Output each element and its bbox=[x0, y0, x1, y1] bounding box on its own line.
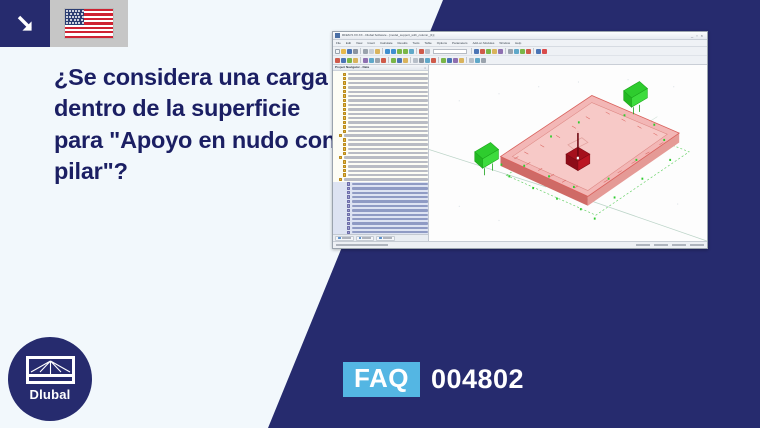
sheet-icon bbox=[347, 222, 350, 225]
tree-item-label bbox=[352, 200, 428, 202]
menu-item-results[interactable]: Results bbox=[398, 42, 408, 45]
navigator-tree[interactable] bbox=[333, 71, 428, 234]
status-bar bbox=[333, 241, 707, 248]
toolbar-separator bbox=[466, 57, 467, 63]
tree-item-label bbox=[348, 104, 428, 106]
sheet-icon bbox=[347, 191, 350, 194]
folder-icon bbox=[343, 143, 346, 146]
folder-icon bbox=[343, 152, 346, 155]
navigator-tab-views[interactable] bbox=[376, 236, 395, 241]
tree-item-label bbox=[348, 91, 428, 93]
folder-icon bbox=[343, 77, 346, 80]
toolbar-icon-new[interactable] bbox=[335, 49, 340, 54]
draw-icon-settings[interactable] bbox=[481, 58, 486, 63]
dlubal-logo-text: Dlubal bbox=[30, 387, 71, 402]
tree-item-label bbox=[348, 73, 428, 75]
draw-icon-dim[interactable] bbox=[413, 58, 418, 63]
dlubal-bridge-truss-icon bbox=[26, 356, 75, 384]
workspace: Project Navigator - Data × bbox=[333, 65, 707, 241]
folder-icon bbox=[343, 121, 346, 124]
menu-item-options[interactable]: Options bbox=[437, 42, 447, 45]
tree-item-label bbox=[348, 165, 428, 167]
toolbar-icon-save[interactable] bbox=[347, 49, 352, 54]
toolbar-icon-pan[interactable] bbox=[403, 49, 408, 54]
tree-item-label bbox=[352, 227, 428, 229]
toolbar-icon-help[interactable] bbox=[542, 49, 547, 54]
toolbar-icon-results[interactable] bbox=[480, 49, 485, 54]
chevron-icon[interactable]: × bbox=[424, 66, 426, 70]
navigator-tab-display[interactable] bbox=[356, 236, 375, 241]
faq-number: 004802 bbox=[431, 364, 524, 395]
minimize-icon[interactable]: _ bbox=[691, 34, 693, 38]
status-coords bbox=[690, 244, 704, 246]
dlubal-logo[interactable]: Dlubal bbox=[8, 337, 92, 421]
tree-item-label bbox=[344, 134, 428, 136]
folder-icon bbox=[343, 138, 346, 141]
toolbar-icon-paste[interactable] bbox=[375, 49, 380, 54]
tree-item-label bbox=[344, 156, 428, 158]
rfem-application-window[interactable]: RFEM 5.XX.XX - Dlubal Software - [model_… bbox=[332, 31, 708, 249]
tree-item-label bbox=[348, 148, 428, 150]
toolbar-separator bbox=[416, 48, 417, 54]
menu-item-window[interactable]: Window bbox=[499, 42, 510, 45]
load-case-select[interactable] bbox=[433, 49, 467, 54]
draw-icon-support[interactable] bbox=[369, 58, 374, 63]
toolbar-icon-print[interactable] bbox=[353, 49, 358, 54]
faq-footer: FAQ 004802 bbox=[343, 362, 524, 397]
folder-icon bbox=[343, 99, 346, 102]
maximize-icon[interactable]: ▫ bbox=[696, 34, 697, 38]
folder-icon bbox=[343, 125, 346, 128]
tree-item-label bbox=[352, 183, 428, 185]
folder-icon bbox=[343, 73, 346, 76]
draw-icon-surface[interactable] bbox=[353, 58, 358, 63]
toolbar-separator bbox=[410, 57, 411, 63]
draw-icon-hinge[interactable] bbox=[375, 58, 380, 63]
toolbar-separator bbox=[505, 48, 506, 54]
sheet-icon bbox=[347, 209, 350, 212]
menu-item-edit[interactable]: Edit bbox=[346, 42, 351, 45]
sheet-icon bbox=[347, 187, 350, 190]
folder-icon bbox=[339, 178, 342, 181]
status-ortho[interactable] bbox=[672, 244, 686, 246]
tree-item-label bbox=[352, 196, 428, 198]
toolbar-icon-grid[interactable] bbox=[508, 49, 513, 54]
folder-icon bbox=[343, 81, 346, 84]
draw-icon-line[interactable] bbox=[341, 58, 346, 63]
status-grid[interactable] bbox=[654, 244, 668, 246]
draw-icon-view-yz[interactable] bbox=[459, 58, 464, 63]
tree-item-label bbox=[352, 205, 428, 207]
toolbar-icon-calc[interactable] bbox=[474, 49, 479, 54]
slide-canvas: ¿Se considera una carga dentro de la sup… bbox=[0, 0, 760, 428]
draw-icon-section[interactable] bbox=[397, 58, 402, 63]
folder-icon bbox=[343, 108, 346, 111]
window-title: RFEM 5.XX.XX - Dlubal Software - [model_… bbox=[342, 34, 689, 37]
tree-item-label bbox=[348, 174, 428, 176]
menu-item-file[interactable]: File bbox=[336, 42, 341, 45]
tree-item-label bbox=[348, 99, 428, 101]
folder-icon bbox=[343, 165, 346, 168]
main-toolbar[interactable] bbox=[333, 47, 707, 56]
toolbar-icon-undo[interactable] bbox=[385, 49, 390, 54]
draw-icon-filter[interactable] bbox=[431, 58, 436, 63]
menu-item-help[interactable]: Help bbox=[515, 42, 521, 45]
toolbar-separator bbox=[533, 48, 534, 54]
draw-icon-load[interactable] bbox=[381, 58, 386, 63]
nodal-support-symbol-top bbox=[624, 81, 648, 114]
tree-item-label bbox=[352, 214, 428, 216]
secondary-toolbar[interactable] bbox=[333, 56, 707, 65]
tree-item-label bbox=[344, 178, 428, 180]
tree-item-label bbox=[348, 126, 428, 128]
nodal-support-symbol-left bbox=[475, 142, 503, 175]
toolbar-separator bbox=[388, 57, 389, 63]
tree-item-label bbox=[348, 113, 428, 115]
folder-icon bbox=[339, 156, 342, 159]
draw-icon-solid[interactable] bbox=[363, 58, 368, 63]
faq-badge: FAQ bbox=[343, 362, 420, 397]
navigator-title: Project Navigator - Data bbox=[335, 66, 369, 69]
toolbar-icon-snap[interactable] bbox=[514, 49, 519, 54]
project-navigator-panel[interactable]: Project Navigator - Data × bbox=[333, 65, 429, 241]
tree-item-label bbox=[348, 161, 428, 163]
draw-icon-table[interactable] bbox=[469, 58, 474, 63]
tree-item-label bbox=[348, 152, 428, 154]
toolbar-separator bbox=[382, 48, 383, 54]
model-viewport-3d[interactable] bbox=[429, 65, 707, 241]
toolbar-icon-moments[interactable] bbox=[498, 49, 503, 54]
toolbar-separator bbox=[471, 48, 472, 54]
menu-item-calculate[interactable]: Calculate bbox=[380, 42, 393, 45]
toolbar-icon-object[interactable] bbox=[526, 49, 531, 54]
draw-icon-material[interactable] bbox=[403, 58, 408, 63]
menu-item-insert[interactable]: Insert bbox=[367, 42, 375, 45]
toolbar-icon-copy[interactable] bbox=[369, 49, 374, 54]
sheet-icon bbox=[347, 200, 350, 203]
menu-item-parameters[interactable]: Parameters bbox=[452, 42, 468, 45]
top-left-controls bbox=[0, 0, 128, 47]
draw-icon-view-iso[interactable] bbox=[441, 58, 446, 63]
draw-icon-export[interactable] bbox=[475, 58, 480, 63]
menu-bar[interactable]: File Edit View Insert Calculate Results … bbox=[333, 40, 707, 47]
toolbar-icon-redo[interactable] bbox=[391, 49, 396, 54]
tree-item-label bbox=[348, 170, 428, 172]
tree-item-label bbox=[348, 121, 428, 123]
toolbar-icon-forces[interactable] bbox=[492, 49, 497, 54]
tree-item-label bbox=[352, 187, 428, 189]
toolbar-separator bbox=[360, 48, 361, 54]
folder-icon bbox=[343, 86, 346, 89]
status-message bbox=[336, 244, 388, 246]
folder-icon bbox=[343, 147, 346, 150]
draw-icon-view-xy[interactable] bbox=[447, 58, 452, 63]
folder-icon bbox=[343, 116, 346, 119]
arrow-down-right-button[interactable] bbox=[0, 0, 50, 47]
tree-item-label bbox=[348, 117, 428, 119]
sheet-icon bbox=[347, 226, 350, 229]
toolbar-icon-rotate[interactable] bbox=[409, 49, 414, 54]
tree-item-label bbox=[352, 222, 428, 224]
menu-item-tools[interactable]: Tools bbox=[413, 42, 420, 45]
menu-item-addons[interactable]: Add-on Modules bbox=[473, 42, 495, 45]
question-text: ¿Se considera una carga dentro de la sup… bbox=[54, 62, 339, 187]
tree-item-label bbox=[348, 82, 428, 84]
window-titlebar[interactable]: RFEM 5.XX.XX - Dlubal Software - [model_… bbox=[333, 32, 707, 40]
draw-icon-layer[interactable] bbox=[425, 58, 430, 63]
tree-item-label bbox=[348, 108, 428, 110]
tree-item-label bbox=[348, 95, 428, 97]
sheet-icon bbox=[347, 204, 350, 207]
window-controls[interactable]: _ ▫ × bbox=[691, 34, 705, 38]
tree-item-label bbox=[348, 130, 428, 132]
toolbar-icon-cut[interactable] bbox=[363, 49, 368, 54]
tree-item-label bbox=[348, 77, 428, 79]
status-indicators bbox=[636, 244, 704, 246]
sheet-icon bbox=[347, 217, 350, 220]
folder-icon bbox=[343, 130, 346, 133]
toolbar-icon-wire[interactable] bbox=[425, 49, 430, 54]
close-icon[interactable]: × bbox=[701, 34, 703, 38]
menu-item-view[interactable]: View bbox=[356, 42, 362, 45]
folder-icon bbox=[343, 103, 346, 106]
folder-icon bbox=[343, 169, 346, 172]
toolbar-separator bbox=[438, 57, 439, 63]
folder-icon bbox=[343, 90, 346, 93]
united-states-flag-icon bbox=[64, 8, 114, 39]
folder-icon bbox=[339, 134, 342, 137]
arrow-down-right-icon bbox=[12, 11, 38, 37]
toolbar-icon-render[interactable] bbox=[419, 49, 424, 54]
sheet-icon bbox=[347, 182, 350, 185]
folder-icon bbox=[343, 94, 346, 97]
navigator-tabs[interactable] bbox=[333, 234, 428, 241]
draw-icon-mesh[interactable] bbox=[391, 58, 396, 63]
toolbar-icon-zoom[interactable] bbox=[397, 49, 402, 54]
toolbar-icon-open[interactable] bbox=[341, 49, 346, 54]
folder-icon bbox=[343, 112, 346, 115]
folder-icon bbox=[343, 160, 346, 163]
tree-item-label bbox=[352, 192, 428, 194]
tree-item-label bbox=[348, 143, 428, 145]
tree-item-label bbox=[348, 86, 428, 88]
menu-item-table[interactable]: Table bbox=[425, 42, 432, 45]
rfem-app-icon bbox=[335, 33, 340, 38]
draw-icon-member[interactable] bbox=[347, 58, 352, 63]
tree-item-label bbox=[352, 209, 428, 211]
folder-icon bbox=[343, 173, 346, 176]
status-snap[interactable] bbox=[636, 244, 650, 246]
draw-icon-node[interactable] bbox=[335, 58, 340, 63]
sheet-icon bbox=[347, 213, 350, 216]
toolbar-separator bbox=[360, 57, 361, 63]
navigator-tab-data[interactable] bbox=[335, 236, 354, 241]
toolbar-icon-ortho[interactable] bbox=[520, 49, 525, 54]
draw-icon-view-xz[interactable] bbox=[453, 58, 458, 63]
tree-item-label bbox=[348, 139, 428, 141]
language-flag-button[interactable] bbox=[50, 0, 128, 47]
draw-icon-text[interactable] bbox=[419, 58, 424, 63]
tree-item-label bbox=[352, 218, 428, 220]
toolbar-icon-deform[interactable] bbox=[486, 49, 491, 54]
sheet-icon bbox=[347, 195, 350, 198]
toolbar-icon-printout[interactable] bbox=[536, 49, 541, 54]
